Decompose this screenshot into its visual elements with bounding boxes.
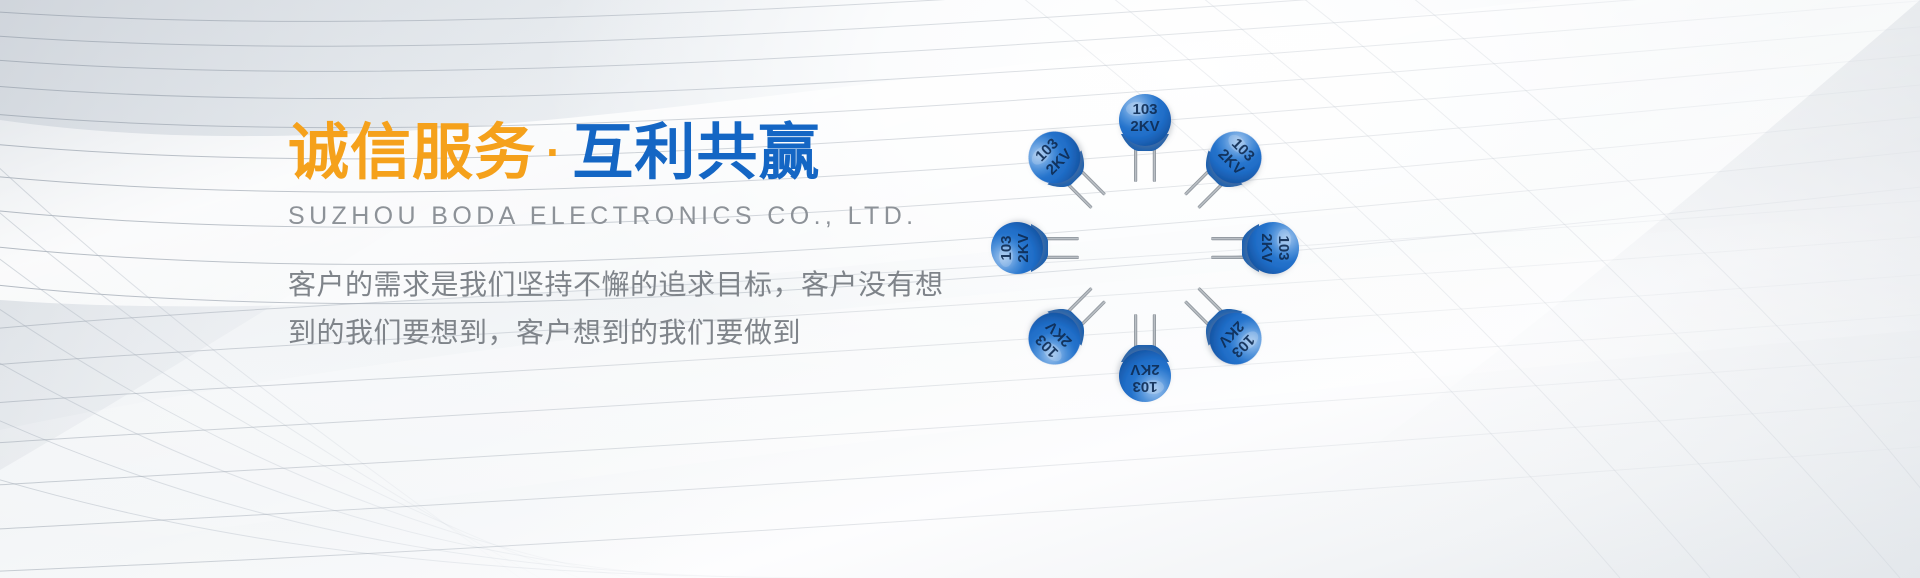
svg-text:103: 103	[1132, 378, 1157, 395]
svg-text:2KV: 2KV	[1130, 361, 1159, 378]
page-title: 诚信服务·互利共赢	[288, 118, 988, 186]
description-line-1: 客户的需求是我们坚持不懈的追求目标，客户没有想	[288, 261, 928, 309]
svg-text:103: 103	[998, 235, 1015, 260]
hero-banner: 诚信服务·互利共赢 SUZHOU BODA ELECTRONICS CO., L…	[0, 0, 1920, 578]
capacitor-0: 103 2KV	[1119, 314, 1171, 402]
capacitor-4: 103 2KV	[1119, 94, 1171, 182]
capacitor-1: 103 2KV	[1018, 276, 1117, 375]
svg-text:103: 103	[1275, 235, 1292, 260]
headline-separator-dot: ·	[536, 126, 572, 178]
capacitor-3: 103 2KV	[1018, 121, 1117, 220]
capacitor-7: 103 2KV	[1173, 276, 1272, 375]
capacitor-2: 103 2KV	[991, 222, 1079, 274]
svg-text:2KV: 2KV	[1258, 233, 1275, 262]
hero-description: 客户的需求是我们坚持不懈的追求目标，客户没有想 到的我们要想到，客户想到的我们要…	[288, 261, 928, 357]
capacitor-5: 103 2KV	[1173, 121, 1272, 220]
headline-orange: 诚信服务	[288, 118, 536, 186]
headline-blue: 互利共赢	[572, 118, 820, 186]
hero-copy: 诚信服务·互利共赢 SUZHOU BODA ELECTRONICS CO., L…	[288, 118, 988, 358]
capacitor-6: 103 2KV	[1211, 222, 1299, 274]
company-name-english: SUZHOU BODA ELECTRONICS CO., LTD.	[288, 202, 988, 231]
svg-text:2KV: 2KV	[1130, 118, 1159, 135]
svg-text:2KV: 2KV	[1015, 233, 1032, 262]
capacitor-ring-image: 103 2KV 103 2KV 103 2KV 103 2KV 103 2KV …	[935, 38, 1355, 458]
svg-text:103: 103	[1132, 101, 1157, 118]
description-line-2: 到的我们要想到，客户想到的我们要做到	[288, 309, 928, 357]
